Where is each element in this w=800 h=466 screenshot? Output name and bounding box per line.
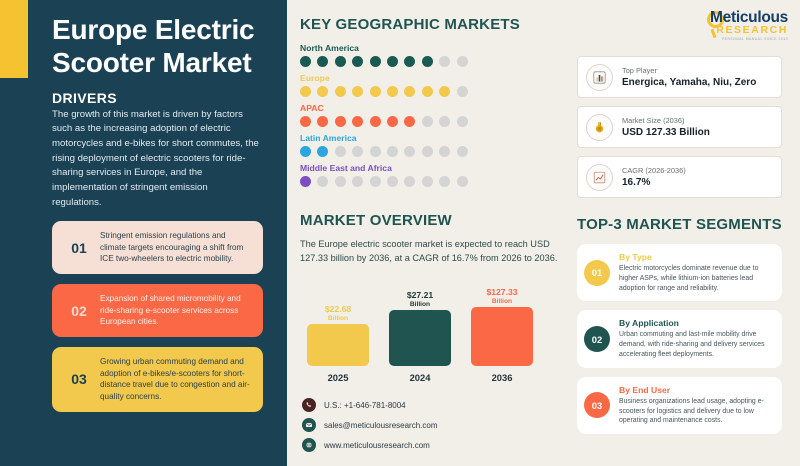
segments-heading: TOP-3 MARKET SEGMENTS	[577, 216, 782, 233]
driver-text: Stringent emission regulations and clima…	[98, 230, 253, 265]
geo-dot-filled	[387, 116, 398, 127]
chart-year-labels: 202520242036	[303, 372, 563, 383]
phone-icon	[302, 398, 316, 412]
geo-dot-scale	[300, 56, 580, 67]
geo-dot-empty	[387, 176, 398, 187]
driver-card-list: 01 Stringent emission regulations and cl…	[0, 210, 287, 411]
chart-bar-unit: Billion	[407, 301, 433, 308]
contact-text: sales@meticulousresearch.com	[324, 421, 438, 430]
segment-number: 02	[584, 326, 610, 352]
geo-label: Middle East and Africa	[300, 163, 580, 173]
stat-card-cagr: CAGR (2026-2036) 16.7%	[577, 156, 782, 198]
geo-row: North America	[300, 43, 580, 67]
drivers-heading: DRIVERS	[0, 80, 287, 108]
driver-number: 03	[60, 371, 98, 387]
bar-chart-icon	[586, 64, 613, 91]
chart-bar-group: $127.33Billion	[471, 288, 533, 366]
geo-dot-filled	[300, 116, 311, 127]
overview-body: The Europe electric scooter market is ex…	[300, 238, 572, 266]
geo-dot-empty	[404, 176, 415, 187]
geo-dot-scale	[300, 146, 580, 157]
geo-row-list: North AmericaEuropeAPACLatin AmericaMidd…	[300, 43, 580, 187]
geo-dot-filled	[352, 56, 363, 67]
yellow-accent-tab	[0, 0, 28, 78]
left-panel: Europe Electric Scooter Market DRIVERS T…	[0, 0, 287, 466]
geo-dot-empty	[439, 56, 450, 67]
geo-dot-filled	[352, 116, 363, 127]
logo-name: Meticulous	[709, 9, 788, 26]
chart-bar-label: $27.21Billion	[407, 291, 433, 308]
stat-label: Top Player	[622, 66, 756, 75]
chart-bars: $22.68Billion$27.21Billion$127.33Billion	[303, 288, 563, 366]
geo-dot-empty	[370, 176, 381, 187]
segment-card-list: 01By TypeElectric motorcycles dominate r…	[577, 244, 782, 434]
segment-body: By TypeElectric motorcycles dominate rev…	[619, 252, 773, 293]
geo-dot-filled	[300, 176, 311, 187]
stat-card-top-player: Top Player Energica, Yamaha, Niu, Zero	[577, 56, 782, 98]
overview-heading: MARKET OVERVIEW	[300, 212, 572, 229]
geo-dot-filled	[422, 86, 433, 97]
top-market-segments-section: TOP-3 MARKET SEGMENTS 01By TypeElectric …	[577, 216, 782, 443]
segment-body: By ApplicationUrban commuting and last-m…	[619, 318, 773, 359]
geo-dot-scale	[300, 176, 580, 187]
geo-dot-empty	[335, 176, 346, 187]
contact-row-website[interactable]: www.meticulousresearch.com	[302, 438, 438, 452]
geo-dot-filled	[387, 86, 398, 97]
market-overview-section: MARKET OVERVIEW The Europe electric scoo…	[300, 212, 572, 266]
segment-title: By Application	[619, 318, 773, 328]
drivers-body: The growth of this market is driven by f…	[0, 108, 287, 211]
geo-row: Middle East and Africa	[300, 163, 580, 187]
geo-dot-empty	[317, 176, 328, 187]
driver-card: 02 Expansion of shared micromobility and…	[52, 284, 263, 337]
stat-label: Market Size (2036)	[622, 116, 710, 125]
chart-bar-value: $127.33	[486, 288, 517, 298]
segment-card: 03By End UserBusiness organizations lead…	[577, 377, 782, 434]
geo-dot-empty	[457, 56, 468, 67]
stat-value: USD 127.33 Billion	[622, 127, 710, 138]
geo-dot-filled	[317, 116, 328, 127]
segment-description: Urban commuting and last-mile mobility d…	[619, 330, 773, 359]
chart-bar	[389, 310, 451, 366]
segment-number: 03	[584, 392, 610, 418]
contact-row-phone[interactable]: U.S.: +1-646-781-8004	[302, 398, 438, 412]
stat-label: CAGR (2026-2036)	[622, 166, 686, 175]
geo-dot-empty	[352, 146, 363, 157]
geo-dot-empty	[352, 176, 363, 187]
segment-body: By End UserBusiness organizations lead u…	[619, 385, 773, 426]
contact-row-email[interactable]: sales@meticulousresearch.com	[302, 418, 438, 432]
geo-label: Europe	[300, 73, 580, 83]
geo-dot-filled	[404, 56, 415, 67]
chart-category-label: 2024	[389, 372, 451, 383]
geo-dot-empty	[439, 176, 450, 187]
mail-icon	[302, 418, 316, 432]
chart-bar	[471, 307, 533, 366]
geo-dot-filled	[370, 86, 381, 97]
brand-logo: Meticulous RESEARCH PERSONAL MANUAL SINC…	[678, 9, 788, 41]
geo-dot-empty	[457, 176, 468, 187]
geo-dot-empty	[457, 146, 468, 157]
geo-dot-filled	[300, 146, 311, 157]
geo-dot-scale	[300, 116, 580, 127]
medal-icon	[586, 114, 613, 141]
contact-list: U.S.: +1-646-781-8004 sales@meticulousre…	[302, 398, 438, 458]
geo-dot-filled	[335, 56, 346, 67]
contact-text: U.S.: +1-646-781-8004	[324, 401, 406, 410]
driver-card: 01 Stringent emission regulations and cl…	[52, 221, 263, 274]
logo-mark: Meticulous	[709, 9, 788, 27]
segment-description: Electric motorcycles dominate revenue du…	[619, 264, 773, 293]
chart-bar-unit: Billion	[486, 298, 517, 305]
title-block: Europe Electric Scooter Market	[0, 0, 287, 80]
stat-text: CAGR (2026-2036) 16.7%	[622, 166, 686, 188]
segment-title: By Type	[619, 252, 773, 262]
geo-dot-filled	[300, 86, 311, 97]
segment-description: Business organizations lead usage, adopt…	[619, 397, 773, 426]
geo-dot-filled	[439, 86, 450, 97]
stat-card-list: Top Player Energica, Yamaha, Niu, Zero M…	[577, 56, 782, 206]
driver-number: 01	[60, 240, 98, 256]
geo-dot-filled	[317, 86, 328, 97]
geo-dot-filled	[317, 56, 328, 67]
geo-dot-empty	[422, 116, 433, 127]
chart-bar-value: $27.21	[407, 291, 433, 301]
right-content-area: Meticulous RESEARCH PERSONAL MANUAL SINC…	[287, 0, 800, 466]
stat-card-market-size: Market Size (2036) USD 127.33 Billion	[577, 106, 782, 148]
chart-bar-group: $27.21Billion	[389, 288, 451, 366]
geo-dot-empty	[422, 176, 433, 187]
geo-dot-filled	[300, 56, 311, 67]
geo-label: North America	[300, 43, 580, 53]
driver-text: Expansion of shared micromobility and ri…	[98, 293, 253, 328]
chart-bar-unit: Billion	[325, 315, 351, 322]
market-bar-chart: $22.68Billion$27.21Billion$127.33Billion…	[303, 288, 563, 388]
geo-heading: KEY GEOGRAPHIC MARKETS	[300, 16, 580, 33]
segment-card: 01By TypeElectric motorcycles dominate r…	[577, 244, 782, 301]
geo-dot-filled	[387, 56, 398, 67]
globe-icon	[302, 438, 316, 452]
geo-dot-empty	[439, 146, 450, 157]
logo-tagline: PERSONAL MANUAL SINCE 2010	[678, 37, 788, 41]
contact-text: www.meticulousresearch.com	[324, 441, 430, 450]
geo-dot-filled	[422, 56, 433, 67]
driver-number: 02	[60, 303, 98, 319]
geo-dot-empty	[370, 146, 381, 157]
driver-card: 03 Growing urban commuting demand and ad…	[52, 347, 263, 412]
geo-row: Latin America	[300, 133, 580, 157]
geo-dot-filled	[404, 116, 415, 127]
chart-bar-label: $22.68Billion	[325, 305, 351, 322]
geo-dot-filled	[352, 86, 363, 97]
geo-dot-empty	[457, 86, 468, 97]
geo-dot-empty	[404, 146, 415, 157]
driver-text: Growing urban commuting demand and adopt…	[98, 356, 253, 403]
geo-row: APAC	[300, 103, 580, 127]
chart-category-label: 2025	[307, 372, 369, 383]
geo-dot-empty	[439, 116, 450, 127]
geo-dot-filled	[335, 86, 346, 97]
geo-dot-filled	[317, 146, 328, 157]
segment-title: By End User	[619, 385, 773, 395]
geo-dot-empty	[422, 146, 433, 157]
chart-bar-group: $22.68Billion	[307, 288, 369, 366]
segment-card: 02By ApplicationUrban commuting and last…	[577, 310, 782, 367]
chart-bar-value: $22.68	[325, 305, 351, 315]
chart-bar	[307, 324, 369, 366]
stat-value: 16.7%	[622, 177, 686, 188]
geo-dot-filled	[335, 116, 346, 127]
geo-dot-empty	[335, 146, 346, 157]
geo-dot-empty	[387, 146, 398, 157]
geo-row: Europe	[300, 73, 580, 97]
geo-label: Latin America	[300, 133, 580, 143]
key-geographic-markets-section: KEY GEOGRAPHIC MARKETS North AmericaEuro…	[300, 16, 580, 193]
stat-text: Top Player Energica, Yamaha, Niu, Zero	[622, 66, 756, 88]
page-title: Europe Electric Scooter Market	[52, 14, 257, 80]
geo-dot-filled	[370, 116, 381, 127]
stat-text: Market Size (2036) USD 127.33 Billion	[622, 116, 710, 138]
geo-dot-empty	[457, 116, 468, 127]
segment-number: 01	[584, 260, 610, 286]
geo-label: APAC	[300, 103, 580, 113]
stat-value: Energica, Yamaha, Niu, Zero	[622, 77, 756, 88]
trend-chart-icon	[586, 164, 613, 191]
geo-dot-filled	[404, 86, 415, 97]
infographic-page: Europe Electric Scooter Market DRIVERS T…	[0, 0, 800, 466]
chart-category-label: 2036	[471, 372, 533, 383]
geo-dot-filled	[370, 56, 381, 67]
geo-dot-scale	[300, 86, 580, 97]
chart-bar-label: $127.33Billion	[486, 288, 517, 305]
